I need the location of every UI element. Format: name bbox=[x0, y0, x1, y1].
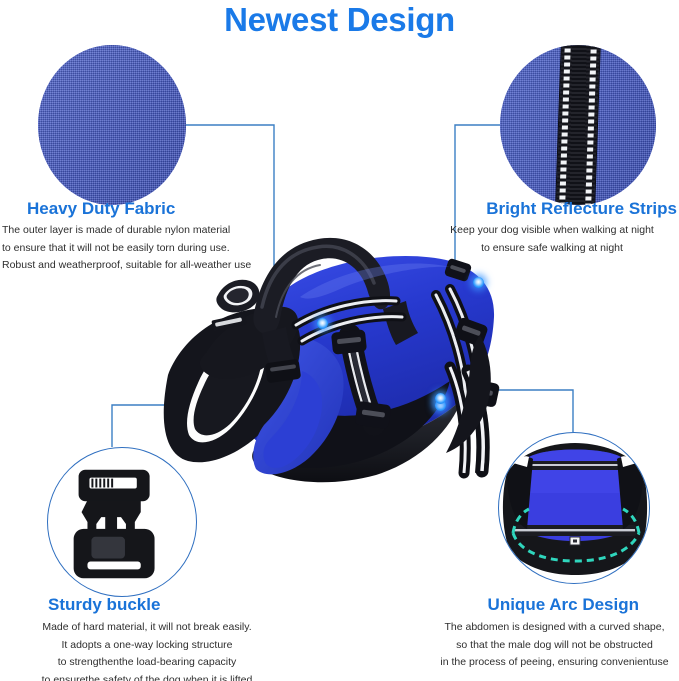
infographic-canvas: Newest Design bbox=[0, 0, 679, 681]
feature-line: Keep your dog visible when walking at ni… bbox=[427, 222, 677, 240]
hotspot-arc bbox=[435, 393, 446, 404]
nylon-fabric-texture bbox=[38, 45, 186, 205]
reflective-dots-right bbox=[585, 45, 597, 205]
feature-heading-unique-arc-design: Unique Arc Design bbox=[488, 594, 639, 616]
feature-line: in the process of peeing, ensuring conve… bbox=[430, 654, 679, 672]
feature-body-sturdy-buckle: Made of hard material, it will not break… bbox=[2, 619, 292, 681]
feature-line: The abdomen is designed with a curved sh… bbox=[430, 619, 679, 637]
feature-line: Made of hard material, it will not break… bbox=[2, 619, 292, 637]
feature-heading-bright-reflecture-strips: Bright Reflecture Strips bbox=[486, 198, 677, 220]
feature-line: to ensure that it will not be easily tor… bbox=[2, 240, 251, 258]
feature-body-bright-reflecture-strips: Keep your dog visible when walking at ni… bbox=[427, 222, 677, 257]
reflective-strip-texture bbox=[500, 45, 656, 205]
feature-line: The outer layer is made of durable nylon… bbox=[2, 222, 251, 240]
feature-line: to ensure safe walking at night bbox=[427, 240, 677, 258]
reflective-strip-circle bbox=[500, 45, 656, 205]
reflective-dots-left bbox=[559, 45, 571, 205]
page-title: Newest Design bbox=[0, 0, 679, 40]
hotspot-fabric bbox=[317, 318, 328, 329]
feature-line: to strengthenthe load-bearing capacity bbox=[2, 654, 292, 672]
black-webbing-band bbox=[555, 45, 601, 205]
fabric-swatch-circle bbox=[38, 45, 186, 205]
feature-body-unique-arc-design: The abdomen is designed with a curved sh… bbox=[430, 619, 679, 672]
feature-line: to ensurethe safety of the dog when it i… bbox=[2, 672, 292, 681]
feature-body-heavy-duty-fabric: The outer layer is made of durable nylon… bbox=[2, 222, 251, 275]
feature-line: It adopts a one-way locking structure bbox=[2, 637, 292, 655]
feature-line: so that the male dog will not be obstruc… bbox=[430, 637, 679, 655]
hotspot-strips bbox=[473, 277, 484, 288]
feature-heading-sturdy-buckle: Sturdy buckle bbox=[48, 594, 160, 616]
feature-heading-heavy-duty-fabric: Heavy Duty Fabric bbox=[27, 198, 175, 220]
feature-line: Robust and weatherproof, suitable for al… bbox=[2, 257, 251, 275]
